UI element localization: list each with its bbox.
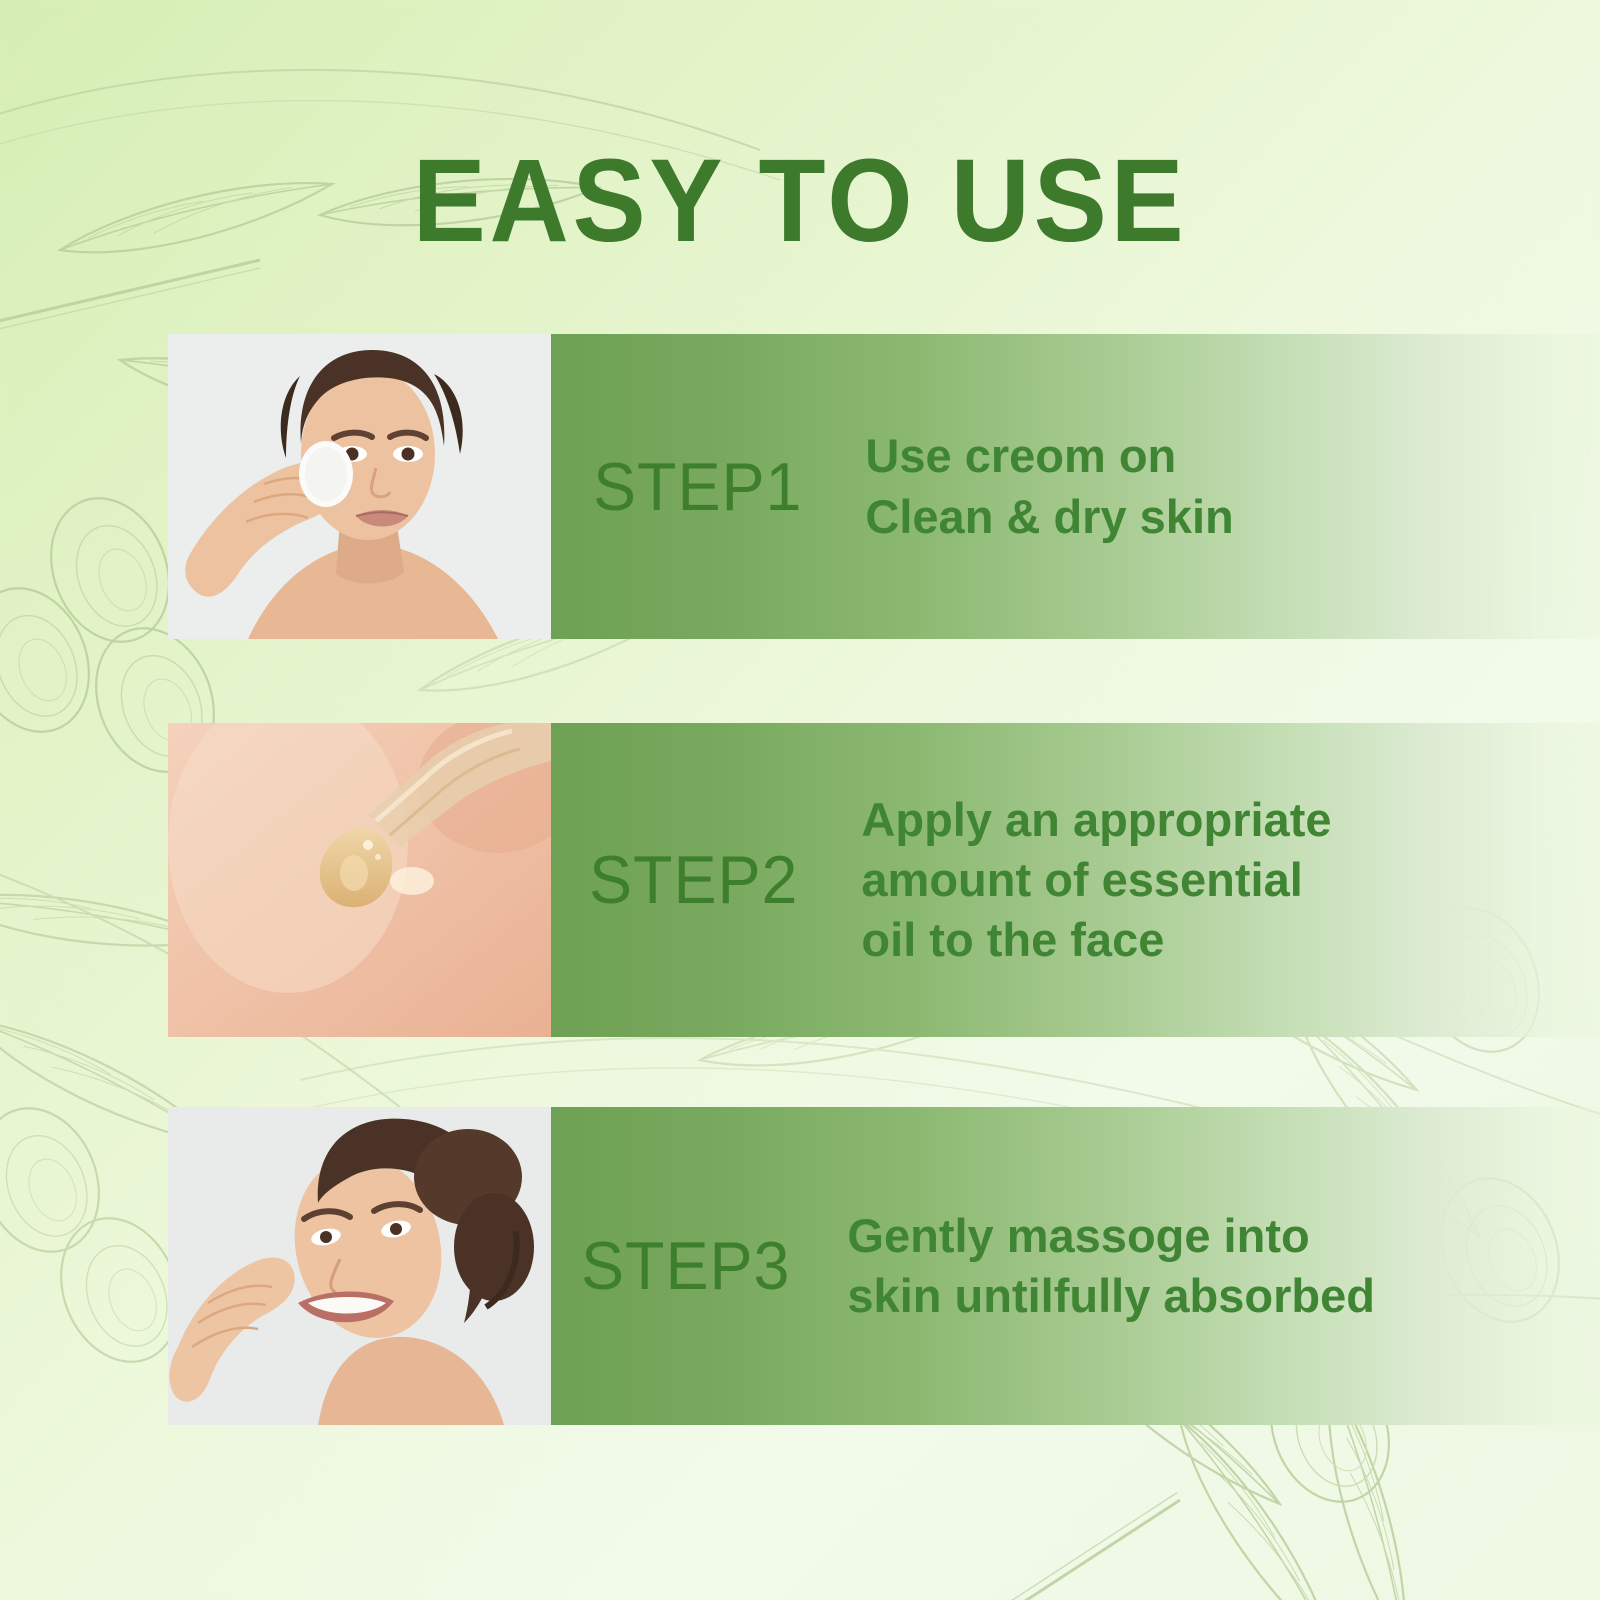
step-label-2: STEP2 <box>589 841 798 919</box>
step-photo-1 <box>168 334 551 639</box>
step-text-3: Gently massoge into skin untilfully abso… <box>847 1206 1375 1326</box>
step-content-1: STEP1 Use creom on Clean & dry skin <box>551 334 1600 639</box>
step-photo-2 <box>168 723 551 1037</box>
step-photo-3 <box>168 1107 551 1425</box>
step-content-3: STEP3 Gently massoge into skin untilfull… <box>551 1107 1600 1425</box>
step-row-2: STEP2 Apply an appropriate amount of ess… <box>168 723 1600 1037</box>
steps-list: STEP1 Use creom on Clean & dry skin <box>0 0 1600 1600</box>
step-content-2: STEP2 Apply an appropriate amount of ess… <box>551 723 1600 1037</box>
step-label-1: STEP1 <box>593 448 802 526</box>
step-row-3: STEP3 Gently massoge into skin untilfull… <box>168 1107 1600 1425</box>
step-text-2: Apply an appropriate amount of essential… <box>861 790 1331 970</box>
step-row-1: STEP1 Use creom on Clean & dry skin <box>168 334 1600 639</box>
step-label-3: STEP3 <box>581 1227 790 1305</box>
step-text-1: Use creom on Clean & dry skin <box>865 426 1233 546</box>
